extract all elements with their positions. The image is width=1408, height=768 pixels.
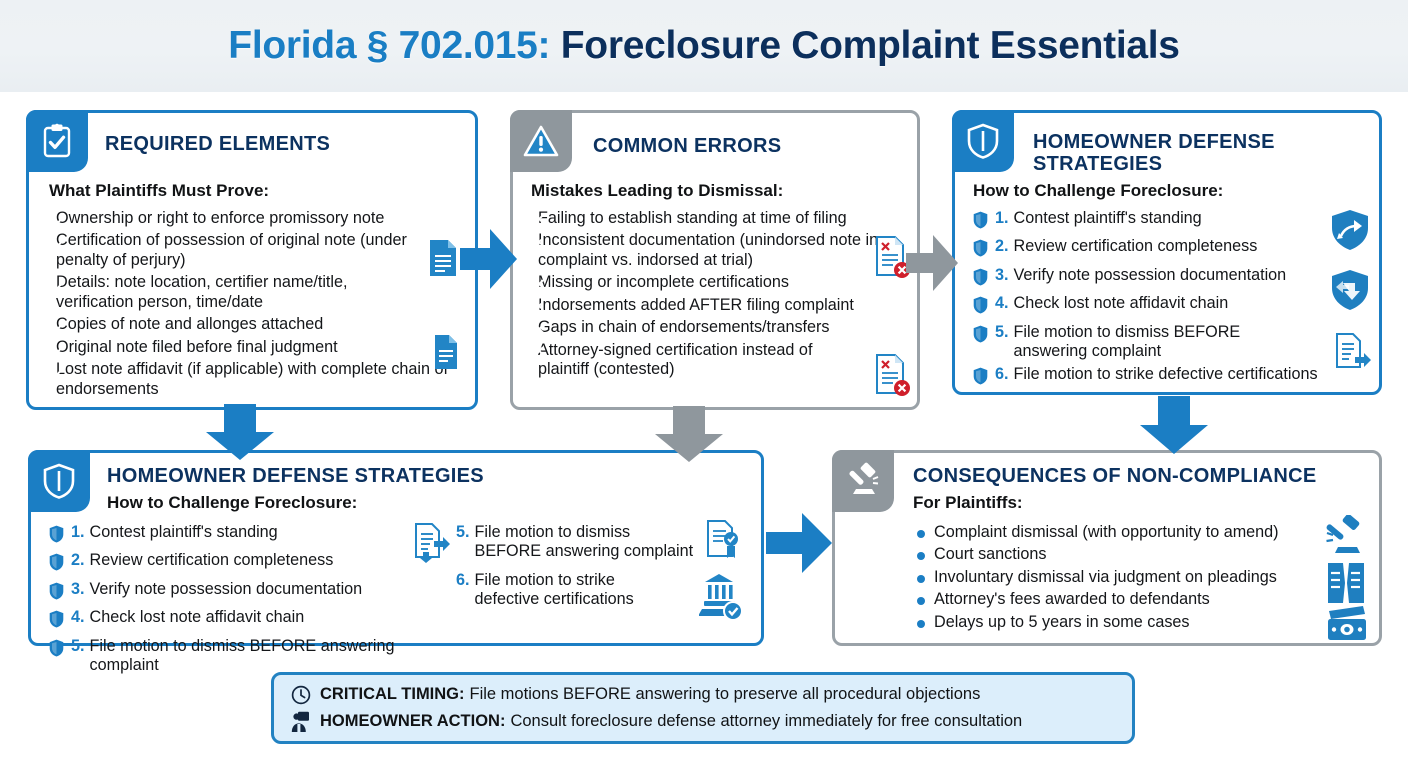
panel-title-defense-top: HOMEOWNER DEFENSE STRATEGIES <box>1033 131 1363 176</box>
arrow-errors-to-defense <box>906 234 958 292</box>
gavel-icon <box>832 450 894 512</box>
document-forward-icon <box>1333 331 1373 378</box>
list-item: Court sanctions <box>913 545 1343 564</box>
clipboard-check-icon <box>26 110 88 172</box>
subhead-defense-bottom: How to Challenge Foreclosure: <box>107 493 357 513</box>
list-item: 5.File motion to dismiss BEFORE answerin… <box>49 637 449 676</box>
list-item: Details: note location, certifier name/t… <box>49 273 469 312</box>
certificate-check-icon <box>703 519 743 572</box>
footer-text: Consult foreclosure defense attorney imm… <box>510 712 1022 731</box>
list-item: Copies of note and allonges attached <box>49 315 469 334</box>
panel-title-required-elements: REQUIRED ELEMENTS <box>105 133 330 155</box>
subhead-required-elements: What Plaintiffs Must Prove: <box>49 181 269 201</box>
subhead-common-errors: Mistakes Leading to Dismissal: <box>531 181 783 201</box>
list-item: Complaint dismissal (with opportunity to… <box>913 523 1343 542</box>
list-item: Involuntary dismissal via judgment on pl… <box>913 568 1343 587</box>
panel-title-defense-bottom: HOMEOWNER DEFENSE STRATEGIES <box>107 465 484 487</box>
list-item: 3.Verify note possession documentation <box>973 266 1373 291</box>
bullet-dot <box>917 597 925 605</box>
list-item: 5.File motion to dismiss BEFORE answerin… <box>456 523 706 562</box>
bullet-dot <box>917 620 925 628</box>
list-item: 1.Contest plaintiff's standing <box>49 523 449 548</box>
shield-icon <box>973 239 988 262</box>
list-item: Delays up to 5 years in some cases <box>913 613 1343 632</box>
header-banner: Florida § 702.015: Foreclosure Complaint… <box>0 0 1408 92</box>
list-consequences: Complaint dismissal (with opportunity to… <box>913 523 1343 635</box>
shield-icon <box>973 367 988 390</box>
list-item: Certification of possession of original … <box>49 231 469 270</box>
page-title: Florida § 702.015: Foreclosure Complaint… <box>228 24 1179 68</box>
footer-row-critical-timing: CRITICAL TIMING: File motions BEFORE ans… <box>290 684 1116 706</box>
shield-icon <box>973 325 988 348</box>
shield-transfer-icon <box>1330 269 1370 316</box>
warning-triangle-icon <box>510 110 572 172</box>
footer-label: HOMEOWNER ACTION: <box>320 712 505 731</box>
list-item: Lost note affidavit (if applicable) with… <box>49 360 469 399</box>
shield-icon <box>49 639 64 662</box>
arrow-defense-to-consequences <box>1140 396 1208 454</box>
shield-icon <box>49 553 64 576</box>
panel-title-consequences: CONSEQUENCES OF NON-COMPLIANCE <box>913 465 1316 487</box>
panel-required-elements: REQUIRED ELEMENTS What Plaintiffs Must P… <box>26 110 478 410</box>
document-error-icon <box>873 353 911 402</box>
list-item: 3.Verify note possession documentation <box>49 580 449 605</box>
document-forward-icon <box>412 521 452 571</box>
list-defense-top: 1.Contest plaintiff's standing 2.Review … <box>973 209 1373 393</box>
shield-icon <box>49 582 64 605</box>
shield-icon <box>973 211 988 234</box>
list-item: Ownership or right to enforce promissory… <box>49 209 469 228</box>
footer-row-homeowner-action: HOMEOWNER ACTION: Consult foreclosure de… <box>290 711 1116 733</box>
list-item: 6.File motion to strike defective certif… <box>456 571 706 610</box>
list-item: 4.Check lost note affidavit chain <box>973 294 1373 319</box>
list-item: 2.Review certification completeness <box>49 551 449 576</box>
shield-share-icon <box>1330 209 1370 256</box>
shield-icon <box>952 110 1014 172</box>
bullet-dot <box>917 530 925 538</box>
subhead-consequences: For Plaintiffs: <box>913 493 1023 513</box>
list-item: Indorsements added AFTER filing complain… <box>531 296 911 315</box>
clock-icon <box>290 684 312 706</box>
list-item: Failing to establish standing at time of… <box>531 209 911 228</box>
list-item: 4.Check lost note affidavit chain <box>49 608 449 633</box>
arrow-required-to-defense-bottom <box>206 404 274 460</box>
panel-title-common-errors: COMMON ERRORS <box>593 135 781 157</box>
footer-callout: CRITICAL TIMING: File motions BEFORE ans… <box>271 672 1135 744</box>
infographic-root: Florida § 702.015: Foreclosure Complaint… <box>0 0 1408 768</box>
footer-text: File motions BEFORE answering to preserv… <box>470 685 981 704</box>
footer-label: CRITICAL TIMING: <box>320 685 465 704</box>
bullet-dot <box>917 552 925 560</box>
list-item: Missing or incomplete certifications <box>531 273 911 292</box>
list-item: 1.Contest plaintiff's standing <box>973 209 1373 234</box>
documents-stack-icon <box>427 331 463 378</box>
panel-common-errors: COMMON ERRORS Mistakes Leading to Dismis… <box>510 110 920 410</box>
list-defense-bottom-right: 5.File motion to dismiss BEFORE answerin… <box>456 523 706 613</box>
list-item: Attorney-signed certification instead of… <box>531 341 911 380</box>
courthouse-check-icon <box>699 571 743 624</box>
arrow-required-to-errors <box>460 228 518 290</box>
list-required-elements: Ownership or right to enforce promissory… <box>49 209 469 402</box>
arrow-defense-bottom-to-consequences <box>766 512 832 574</box>
shield-icon <box>49 525 64 548</box>
list-item: Inconsistent documentation (unindorsed n… <box>531 231 911 270</box>
list-item: 5.File motion to dismiss BEFORE answerin… <box>973 323 1373 362</box>
panel-defense-strategies-top: HOMEOWNER DEFENSE STRATEGIES How to Chal… <box>952 110 1382 395</box>
page-title-rest: Foreclosure Complaint Essentials <box>550 24 1179 67</box>
person-document-icon <box>290 711 312 733</box>
bullet-dot <box>917 575 925 583</box>
list-common-errors: Failing to establish standing at time of… <box>531 209 911 383</box>
panel-defense-strategies-bottom: HOMEOWNER DEFENSE STRATEGIES How to Chal… <box>28 450 764 646</box>
panel-consequences: CONSEQUENCES OF NON-COMPLIANCE For Plain… <box>832 450 1382 646</box>
arrow-errors-down <box>655 406 723 462</box>
document-lines-icon <box>427 238 459 283</box>
gavel-icon <box>1323 515 1367 562</box>
list-item: Attorney's fees awarded to defendants <box>913 590 1343 609</box>
shield-icon <box>28 450 90 512</box>
list-item: Original note filed before final judgmen… <box>49 338 469 357</box>
list-defense-bottom-left: 1.Contest plaintiff's standing 2.Review … <box>49 523 449 679</box>
list-item: Gaps in chain of endorsements/transfers <box>531 318 911 337</box>
subhead-defense-top: How to Challenge Foreclosure: <box>973 181 1223 201</box>
list-item: 6.File motion to strike defective certif… <box>973 365 1373 390</box>
shield-icon <box>49 610 64 633</box>
shield-icon <box>973 296 988 319</box>
shield-icon <box>973 268 988 291</box>
torn-document-icon <box>1325 561 1367 610</box>
page-title-statute: Florida § 702.015: <box>228 24 550 67</box>
money-icon <box>1325 605 1369 648</box>
list-item: 2.Review certification completeness <box>973 237 1373 262</box>
